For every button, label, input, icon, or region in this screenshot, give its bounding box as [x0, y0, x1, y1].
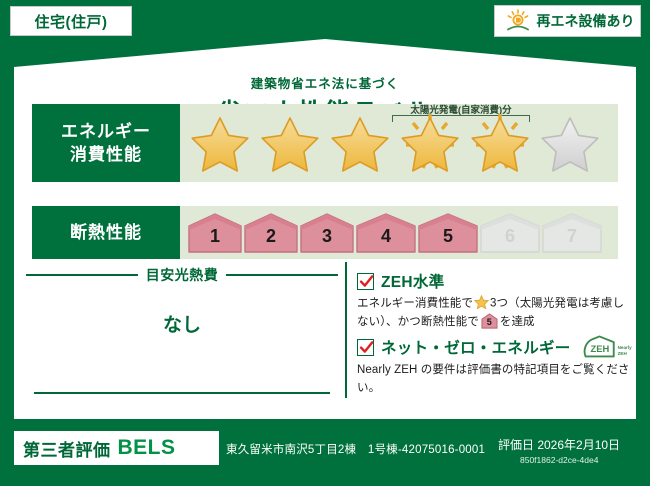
insulation-level-label: 6	[480, 226, 540, 247]
star-icon-filled	[186, 112, 254, 174]
star-icon-filled	[396, 112, 464, 174]
star-icon-filled	[466, 112, 534, 174]
insulation-level-label: 7	[542, 226, 602, 247]
star-rating	[180, 112, 604, 174]
zeh-logo-subtext: Nearly ZEH	[618, 345, 632, 359]
energy-performance-header: エネルギー 消費性能	[32, 104, 180, 182]
zeh-standard-description: エネルギー消費性能で3つ（太陽光発電は考慮しない）、かつ断熱性能で5を達成	[357, 295, 633, 332]
energy-performance-body: 太陽光発電(自家消費)分	[180, 104, 618, 182]
zeh-standard-title: ZEH水準	[381, 270, 445, 292]
insulation-performance-row: 断熱性能 1234567	[32, 206, 618, 259]
zeh-logo: ZEH Nearly ZEH	[582, 335, 632, 359]
insulation-level-4: 4	[356, 213, 416, 253]
insulation-header-label: 断熱性能	[70, 222, 142, 243]
insulation-level-label: 4	[356, 226, 416, 247]
zeh-house-icon: ZEH	[582, 335, 616, 359]
net-zero-energy-item: ネット・ゼロ・エネルギー ZEH Nearly ZEH Nearly ZEH の…	[357, 335, 633, 398]
energy-header-line1: エネルギー	[61, 121, 151, 142]
utility-cost-title: 目安光熱費	[146, 265, 219, 285]
footer: 第三者評価 BELS 東久留米市南沢5丁目2棟 1号棟-42075016-000…	[0, 424, 650, 486]
net-zero-title-row: ネット・ゼロ・エネルギー ZEH Nearly ZEH	[357, 335, 633, 359]
check-icon	[359, 340, 374, 355]
zeh-logo-sub-line1: Nearly	[618, 345, 632, 350]
insulation-level-label: 1	[188, 226, 242, 247]
net-zero-title: ネット・ゼロ・エネルギー	[381, 336, 571, 358]
title-subtitle: 建築物省エネ法に基づく	[14, 73, 636, 92]
insulation-level-2: 2	[244, 213, 298, 253]
star-icon	[474, 295, 489, 309]
insulation-level-1: 1	[188, 213, 242, 253]
insulation-level-scale: 1234567	[180, 213, 602, 253]
insulation-level-7: 7	[542, 213, 602, 253]
renewable-equipment-chip: 再エネ設備あり	[494, 5, 641, 37]
bels-energy-label: 住宅(住戸) 再エネ設備あり 建築物省エネ法に基づく 省エネ性能ラベ	[0, 0, 650, 486]
zeh-desc-part-a: エネルギー消費性能で	[357, 297, 473, 309]
star-icon-filled	[326, 112, 394, 174]
svg-text:ZEH: ZEH	[590, 344, 609, 354]
bels-badge-en: BELS	[118, 436, 176, 460]
insulation-level-inline-label: 5	[481, 316, 498, 330]
star-icon-filled	[256, 112, 324, 174]
insulation-level-6: 6	[480, 213, 540, 253]
zeh-standard-checkbox[interactable]	[357, 273, 374, 290]
utility-cost-bottom-rule	[34, 392, 330, 394]
energy-header-line2: 消費性能	[70, 144, 142, 165]
insulation-performance-header: 断熱性能	[32, 206, 180, 259]
bels-badge-jp: 第三者評価	[23, 436, 111, 461]
rule-right	[226, 274, 338, 276]
insulation-level-inline-icon: 5	[481, 313, 498, 329]
insulation-level-label: 3	[300, 226, 354, 247]
housing-type-chip: 住宅(住戸)	[10, 6, 132, 36]
zeh-standard-item: ZEH水準 エネルギー消費性能で3つ（太陽光発電は考慮しない）、かつ断熱性能で5…	[357, 270, 633, 332]
utility-cost-value: なし	[26, 310, 338, 337]
property-address: 東久留米市南沢5丁目2棟 1号棟-42075016-0001	[226, 441, 485, 457]
evaluation-date: 評価日 2026年2月10日	[498, 436, 620, 453]
renewable-equipment-label: 再エネ設備あり	[537, 11, 635, 31]
insulation-level-label: 2	[244, 226, 298, 247]
rule-left	[26, 274, 138, 276]
solar-sun-icon	[505, 9, 531, 33]
insulation-level-3: 3	[300, 213, 354, 253]
net-zero-description: Nearly ZEH の要件は評価書の特記項目をご覧ください。	[357, 362, 633, 398]
insulation-performance-body: 1234567	[180, 206, 618, 259]
document-hash: 850f1862-d2ce-4de4	[520, 455, 598, 465]
insulation-level-5: 5	[418, 213, 478, 253]
utility-cost-header: 目安光熱費	[26, 265, 338, 285]
star-icon-empty	[536, 112, 604, 174]
energy-performance-row: エネルギー 消費性能 太陽光発電(自家消費)分	[32, 104, 618, 182]
check-icon	[359, 274, 374, 289]
section-divider	[345, 262, 347, 398]
net-zero-checkbox[interactable]	[357, 339, 374, 356]
zeh-desc-part-c: を達成	[500, 316, 535, 328]
bels-badge: 第三者評価 BELS	[14, 431, 219, 465]
insulation-level-label: 5	[418, 226, 478, 247]
zeh-logo-sub-line2: ZEH	[618, 351, 627, 356]
housing-type-label: 住宅(住戸)	[35, 11, 108, 32]
zeh-standard-title-row: ZEH水準	[357, 270, 633, 292]
